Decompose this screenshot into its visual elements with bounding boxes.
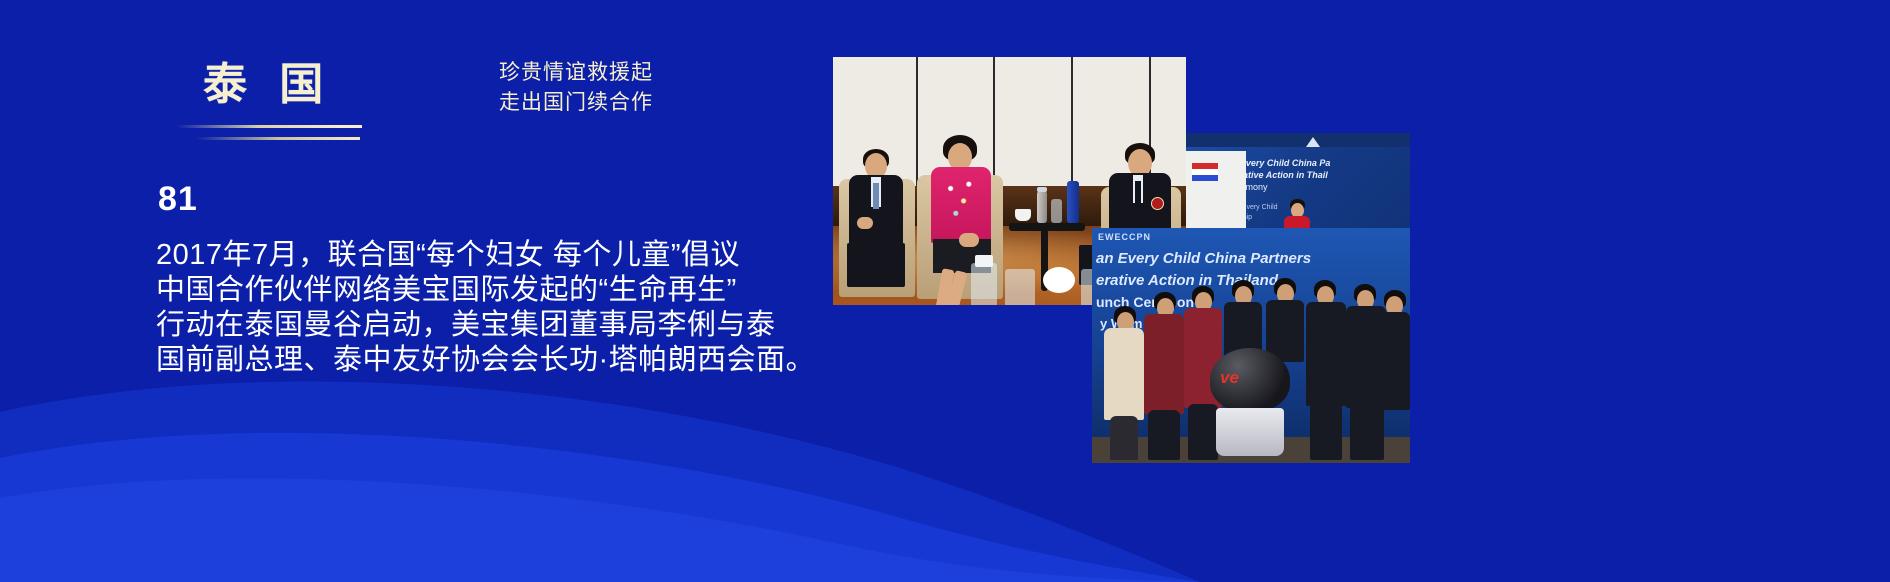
body-line-1: 2017年7月，联合国“每个妇女 每个儿童”倡议 (156, 238, 876, 273)
teacup (1015, 209, 1031, 221)
water-bottle-table (1037, 191, 1047, 223)
body-line-2: 中国合作伙伴网络美宝国际发起的“生命再生” (156, 273, 876, 308)
foreground-bottle-1 (971, 263, 997, 305)
launch-ceremony-photo: EWECCPN an Every Child China Partners er… (1092, 228, 1410, 463)
jacket-emblem (1151, 197, 1164, 210)
glass-tumbler (1051, 199, 1062, 223)
item-number: 81 (158, 180, 198, 219)
wall-panel-3 (995, 57, 1073, 186)
ceremony-logo-text: EWECCPN (1098, 232, 1151, 242)
body-line-3: 行动在泰国曼谷启动，美宝集团董事局李俐与泰 (156, 308, 876, 343)
thermos-blue (1067, 181, 1079, 223)
ceremony-headline-line-3: unch Ceremony (1096, 294, 1202, 310)
foreground-flower-1 (1043, 267, 1075, 293)
subtitle-line-1: 珍贵情谊救援起 (440, 58, 712, 88)
banner-top-strip (1186, 133, 1410, 147)
slide-canvas: 泰 国 珍贵情谊救援起 走出国门续合作 81 2017年7月，联合国“每个妇女 … (0, 0, 1890, 582)
banner-flag-icon (1192, 163, 1218, 181)
launch-globe-pedestal (1216, 408, 1284, 456)
wall-panel-5 (1151, 57, 1186, 186)
globe-label: ve (1220, 368, 1239, 388)
subtitle-line-2: 走出国门续合作 (440, 88, 712, 118)
title-underline-top (176, 125, 362, 128)
page-title: 泰 国 (203, 62, 333, 108)
title-underline-bottom (196, 137, 360, 140)
ceremony-headline-line-1: an Every Child China Partners (1096, 250, 1311, 267)
bottle-cap (1037, 187, 1047, 192)
foreground-cap-1 (975, 255, 993, 267)
body-line-4: 国前副总理、泰中友好协会会长功·塔帕朗西会面。 (156, 343, 876, 378)
body-paragraph: 2017年7月，联合国“每个妇女 每个儿童”倡议 中国合作伙伴网络美宝国际发起的… (156, 238, 876, 378)
foreground-bottle-2 (1005, 269, 1035, 305)
subtitle: 珍贵情谊救援起 走出国门续合作 (440, 58, 712, 118)
